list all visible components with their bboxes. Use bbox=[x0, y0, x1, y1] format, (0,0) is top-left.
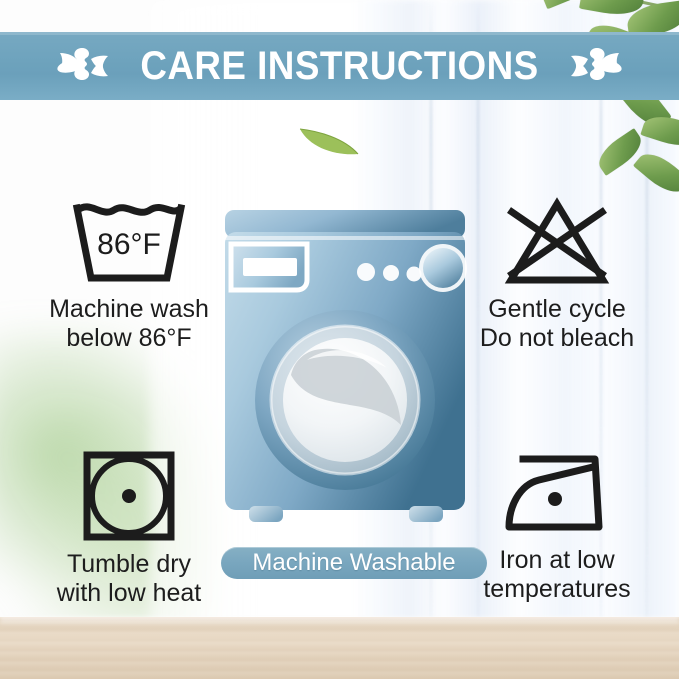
tumble-dry-icon bbox=[79, 447, 179, 543]
indicator-light-1 bbox=[357, 263, 375, 281]
indicator-light-2 bbox=[383, 265, 399, 281]
washing-machine-illustration bbox=[221, 210, 469, 540]
machine-foot-left bbox=[249, 506, 283, 522]
iron-icon bbox=[499, 447, 615, 539]
caption-line-2: with low heat bbox=[57, 579, 202, 608]
fleur-de-lis-icon-left bbox=[51, 43, 113, 89]
care-item-do-not-bleach: Gentle cycle Do not bleach bbox=[448, 196, 666, 353]
caption-line-1: Tumble dry bbox=[57, 550, 202, 579]
care-caption-tumble-dry: Tumble dry with low heat bbox=[57, 550, 202, 608]
wash-tub-icon: 86°F bbox=[71, 196, 187, 288]
caption-line-2: temperatures bbox=[483, 575, 630, 604]
caption-line-1: Machine wash bbox=[49, 295, 209, 324]
badge-label: Machine Washable bbox=[252, 551, 455, 575]
care-item-machine-wash: 86°F Machine wash below 86°F bbox=[24, 196, 234, 353]
header-banner: CARE INSTRUCTIONS bbox=[0, 32, 679, 100]
page-title: CARE INSTRUCTIONS bbox=[140, 46, 538, 86]
caption-line-2: below 86°F bbox=[49, 324, 209, 353]
care-caption-do-not-bleach: Gentle cycle Do not bleach bbox=[480, 295, 634, 353]
care-item-tumble-dry: Tumble dry with low heat bbox=[24, 447, 234, 608]
caption-line-2: Do not bleach bbox=[480, 324, 634, 353]
care-item-iron: Iron at low temperatures bbox=[448, 447, 666, 604]
control-knob bbox=[423, 248, 463, 288]
wash-temperature-value: 86°F bbox=[97, 228, 161, 261]
leaf-cluster bbox=[535, 0, 679, 200]
machine-washable-badge: Machine Washable bbox=[221, 547, 487, 579]
care-caption-iron: Iron at low temperatures bbox=[483, 546, 630, 604]
machine-foot-right bbox=[409, 506, 443, 522]
dry-heat-dot bbox=[122, 489, 136, 503]
caption-line-1: Iron at low bbox=[483, 546, 630, 575]
floating-green-leaf bbox=[296, 122, 362, 158]
drawer-handle bbox=[243, 258, 297, 276]
wood-grain bbox=[0, 617, 679, 679]
wooden-table-surface bbox=[0, 617, 679, 679]
crossed-triangle-icon bbox=[499, 196, 615, 288]
poster-stage: CARE INSTRUCTIONS 86°F Machine wash belo… bbox=[0, 0, 679, 679]
fleur-de-lis-icon-right bbox=[566, 43, 628, 89]
caption-line-1: Gentle cycle bbox=[480, 295, 634, 324]
care-caption-machine-wash: Machine wash below 86°F bbox=[49, 295, 209, 353]
iron-heat-dot bbox=[548, 492, 562, 506]
